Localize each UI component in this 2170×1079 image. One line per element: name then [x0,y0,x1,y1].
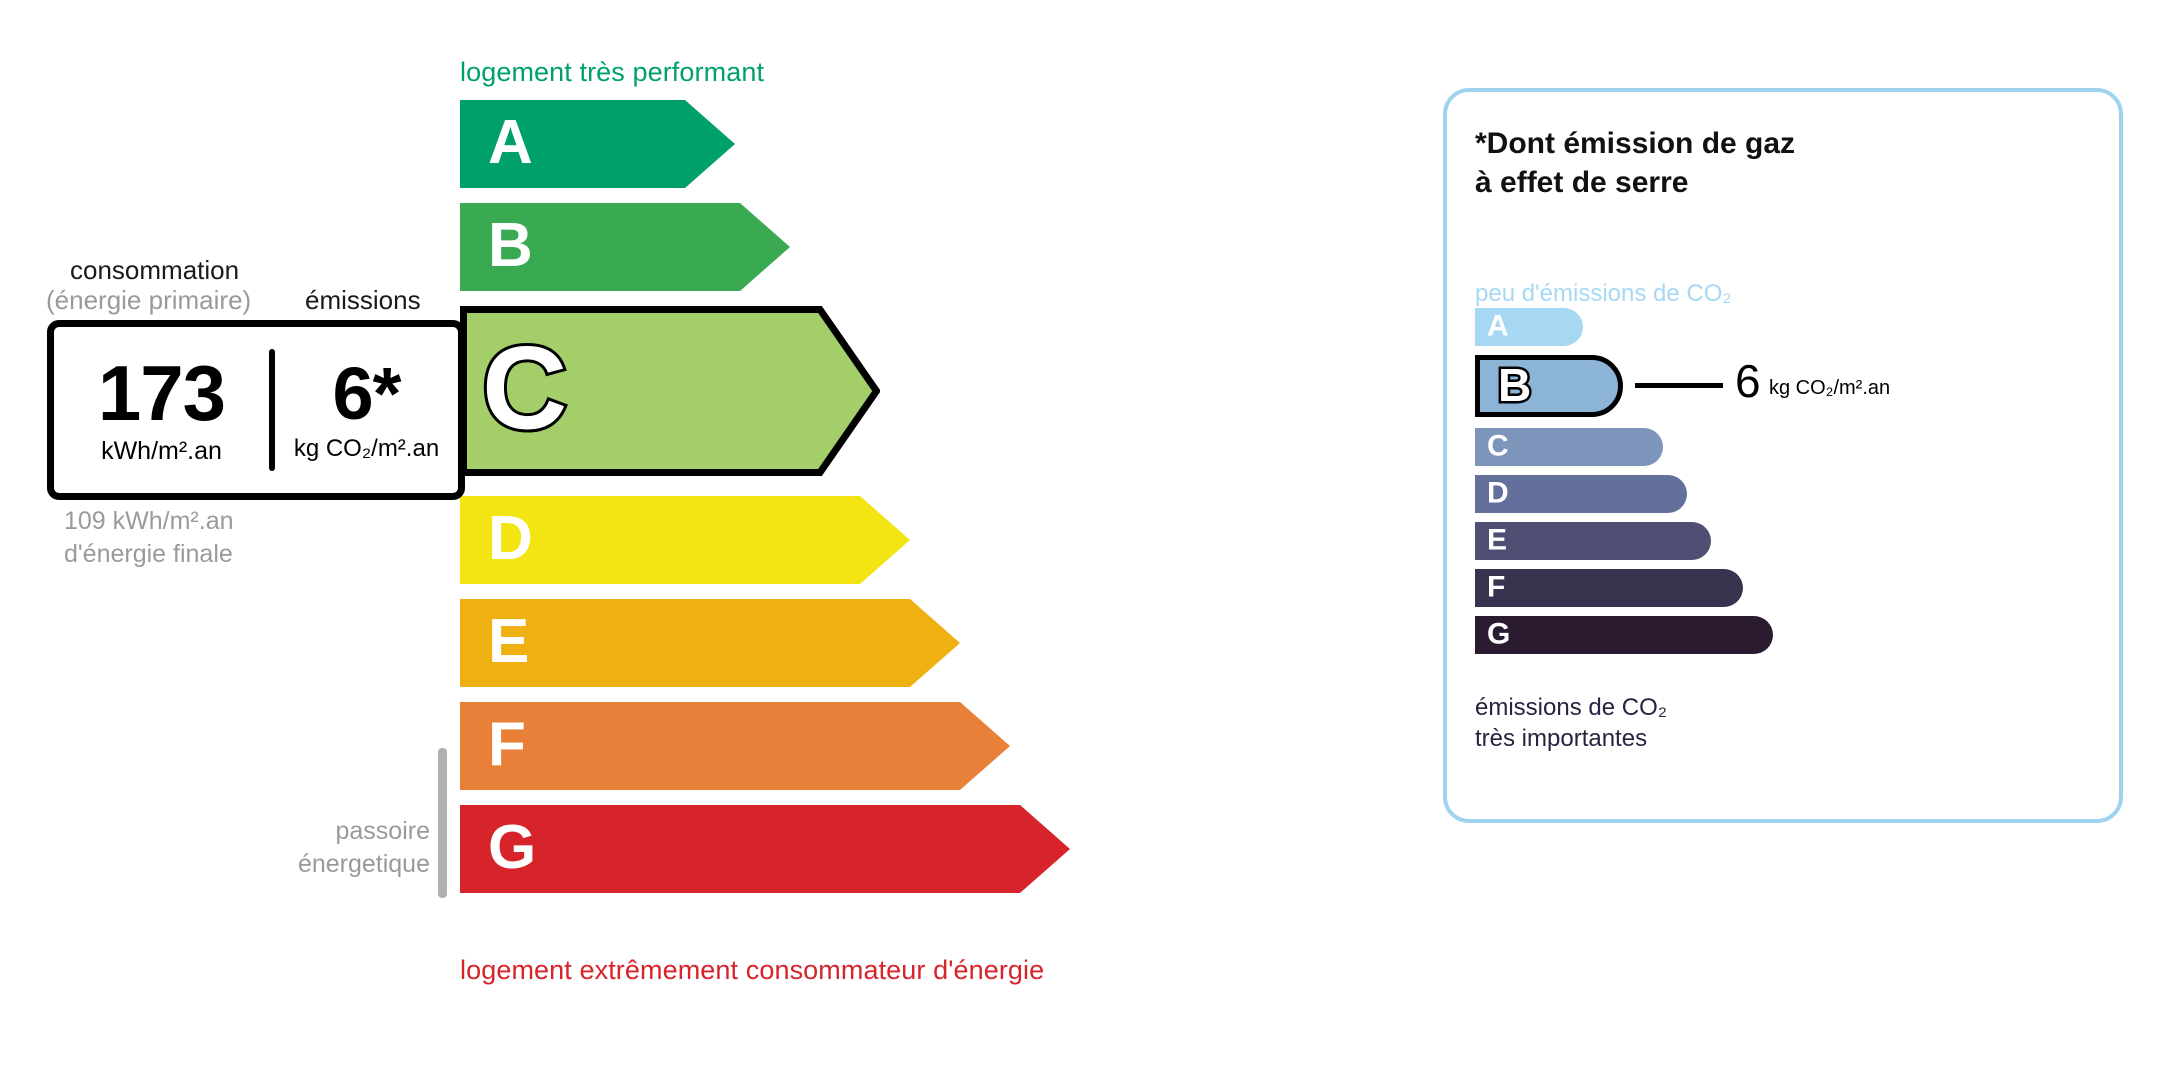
emission-value-cell: 6* kg CO₂/m².an [275,327,458,493]
passoire-line1: passoire [270,815,430,848]
consumption-header-sublabel: (énergie primaire) [46,285,251,316]
co2-band-letter-b: B [1498,362,1531,408]
energy-band-shape-e: E [460,599,1260,687]
co2-band-letter-c: C [1487,431,1509,461]
co2-band-letter-f: F [1487,572,1505,602]
co2-band-shape-c: C [1475,428,1663,466]
energy-band-shape-g: G [460,805,1260,893]
final-energy-line1: 109 kWh/m².an [64,505,234,538]
co2-band-a: A [1475,308,2095,346]
passoire-line2: énergetique [270,848,430,881]
co2-band-g: G [1475,616,2095,654]
energy-band-shape-f: F [460,702,1260,790]
passoire-bracket [438,748,447,898]
passoire-label: passoire énergetique [270,815,430,880]
energy-band-letter-b: B [488,215,533,277]
energy-top-label: logement très performant [460,57,764,88]
co2-band-e: E [1475,522,2095,560]
consumption-value: 173 [98,356,225,430]
final-energy-line2: d'énergie finale [64,538,234,571]
energy-band-f: F [460,702,1260,790]
co2-bands-list: AB6kg CO₂/m².anCDEFG [1475,308,2095,663]
co2-band-shape-f: F [1475,569,1743,607]
energy-band-letter-c: C [482,330,567,448]
value-box: 173 kWh/m².an 6* kg CO₂/m².an [47,320,465,500]
emissions-header-label: émissions [305,285,421,316]
co2-band-b: B6kg CO₂/m².an [1475,355,2095,417]
co2-band-shape-e: E [1475,522,1711,560]
energy-band-shape-c: C [460,306,1260,476]
emission-value: 6* [333,359,401,429]
consumption-header-label: consommation [70,255,239,286]
co2-bottom-line1: émissions de CO₂ [1475,692,1667,723]
co2-title-line2: à effet de serre [1475,163,1795,202]
energy-band-b: B [460,203,1260,291]
energy-band-g: G [460,805,1260,893]
co2-top-note: peu d'émissions de CO₂ [1475,280,1732,308]
dpe-energy-label: logement très performant ABCDEFG consomm… [0,0,2170,1079]
co2-band-shape-a: A [1475,308,1583,346]
co2-title-line1: *Dont émission de gaz [1475,124,1795,163]
energy-band-letter-d: D [488,508,533,570]
co2-band-shape-g: G [1475,616,1773,654]
consumption-value-cell: 173 kWh/m².an [54,327,269,493]
energy-band-letter-a: A [488,112,533,174]
final-energy-note: 109 kWh/m².an d'énergie finale [64,505,234,571]
consumption-unit: kWh/m².an [101,439,222,464]
energy-band-a: A [460,100,1260,188]
energy-band-letter-g: G [488,817,536,879]
energy-band-d: D [460,496,1260,584]
energy-band-shape-d: D [460,496,1260,584]
co2-band-letter-g: G [1487,619,1510,649]
co2-bottom-line2: très importantes [1475,723,1667,754]
co2-band-letter-d: D [1487,478,1509,508]
co2-band-f: F [1475,569,2095,607]
co2-bottom-note: émissions de CO₂ très importantes [1475,692,1667,754]
co2-panel-title: *Dont émission de gaz à effet de serre [1475,124,1795,202]
co2-callout-unit: kg CO₂/m².an [1769,377,1890,400]
co2-band-d: D [1475,475,2095,513]
co2-band-c: C [1475,428,2095,466]
co2-callout-line [1635,383,1723,388]
energy-band-letter-e: E [488,611,529,673]
energy-band-letter-f: F [488,714,526,776]
co2-band-shape-b: B [1475,355,1623,417]
energy-band-c: C [460,306,1260,476]
energy-band-shape-a: A [460,100,1260,188]
energy-scale-panel: logement très performant ABCDEFG consomm… [0,0,1400,1079]
emission-unit: kg CO₂/m².an [294,437,439,461]
energy-band-e: E [460,599,1260,687]
co2-band-letter-e: E [1487,525,1507,555]
energy-band-shape-b: B [460,203,1260,291]
co2-band-shape-d: D [1475,475,1687,513]
co2-panel: *Dont émission de gaz à effet de serre p… [1443,88,2123,823]
co2-callout-value: 6 [1735,358,1761,404]
co2-band-letter-a: A [1487,311,1509,341]
energy-bands-list: ABCDEFG [460,100,1260,908]
energy-bottom-label: logement extrêmement consommateur d'éner… [460,955,1044,986]
